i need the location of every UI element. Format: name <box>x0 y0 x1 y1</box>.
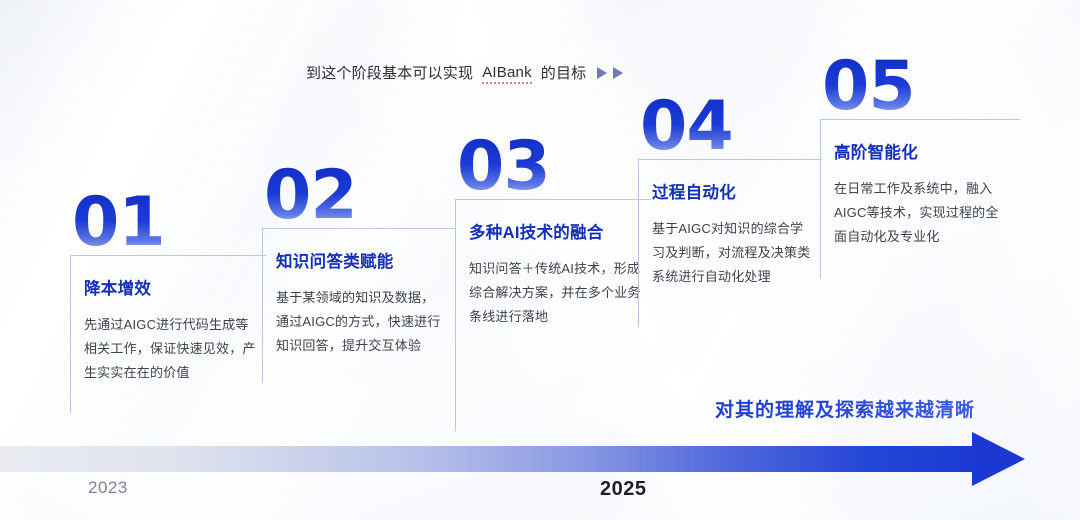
annotation-prefix: 到这个阶段基本可以实现 <box>306 62 473 83</box>
stage-number: 02 <box>264 165 456 228</box>
timeline-year-start: 2023 <box>88 478 128 498</box>
stage-title: 降本增效 <box>84 275 256 299</box>
stage-title: 过程自动化 <box>652 179 812 203</box>
timeline-year-end: 2025 <box>600 478 647 501</box>
stage-card-03: 03 多种AI技术的融合 知识问答＋传统AI技术，形成综合解决方案，并在多个业务… <box>455 136 651 329</box>
double-chevron-right-icon <box>595 65 625 81</box>
stage-number: 01 <box>72 192 266 255</box>
progress-caption: 对其的理解及探索越来越清晰 <box>715 395 975 422</box>
stage-number: 03 <box>457 136 651 199</box>
stage-title: 高阶智能化 <box>834 139 1010 163</box>
timeline-bar <box>0 446 980 472</box>
stage-body: 基于某领域的知识及数据，通过AIGC的方式，快速进行知识回答，提升交互体验 <box>276 286 446 358</box>
stage-card-04: 04 过程自动化 基于AIGC对知识的综合学习及判断，对流程及决策类系统进行自动… <box>638 96 822 289</box>
stage-number: 04 <box>640 96 822 159</box>
stage-title: 多种AI技术的融合 <box>469 219 641 243</box>
top-annotation: 到这个阶段基本可以实现AIBank的目标 <box>306 62 625 83</box>
stage-card-frame: 过程自动化 基于AIGC对知识的综合学习及判断，对流程及决策类系统进行自动化处理 <box>638 159 822 289</box>
right-arrow-icon <box>972 432 1025 486</box>
stage-card-frame: 知识问答类赋能 基于某领域的知识及数据，通过AIGC的方式，快速进行知识回答，提… <box>262 228 456 358</box>
stage-body: 知识问答＋传统AI技术，形成综合解决方案，并在多个业务条线进行落地 <box>469 257 641 329</box>
stage-card-frame: 高阶智能化 在日常工作及系统中，融入AIGC等技术，实现过程的全面自动化及专业化 <box>820 119 1020 249</box>
stage-card-frame: 降本增效 先通过AIGC进行代码生成等相关工作，保证快速见效，产生实实在在的价值 <box>70 255 266 385</box>
stage-body: 先通过AIGC进行代码生成等相关工作，保证快速见效，产生实实在在的价值 <box>84 313 256 385</box>
stage-body: 在日常工作及系统中，融入AIGC等技术，实现过程的全面自动化及专业化 <box>834 177 1010 249</box>
stage-number: 05 <box>822 56 1020 119</box>
annotation-suffix: 的目标 <box>541 62 587 83</box>
stage-card-01: 01 降本增效 先通过AIGC进行代码生成等相关工作，保证快速见效，产生实实在在… <box>70 192 266 385</box>
slide-canvas: 到这个阶段基本可以实现AIBank的目标 01 降本增效 先通过AIGC进行代码… <box>0 0 1080 520</box>
stage-title: 知识问答类赋能 <box>276 248 446 272</box>
annotation-emphasis: AIBank <box>482 64 532 81</box>
stage-body: 基于AIGC对知识的综合学习及判断，对流程及决策类系统进行自动化处理 <box>652 217 812 289</box>
stage-card-02: 02 知识问答类赋能 基于某领域的知识及数据，通过AIGC的方式，快速进行知识回… <box>262 165 456 358</box>
stage-card-frame: 多种AI技术的融合 知识问答＋传统AI技术，形成综合解决方案，并在多个业务条线进… <box>455 199 651 329</box>
footer-partial-text <box>855 498 1055 516</box>
stage-card-05: 05 高阶智能化 在日常工作及系统中，融入AIGC等技术，实现过程的全面自动化及… <box>820 56 1020 249</box>
